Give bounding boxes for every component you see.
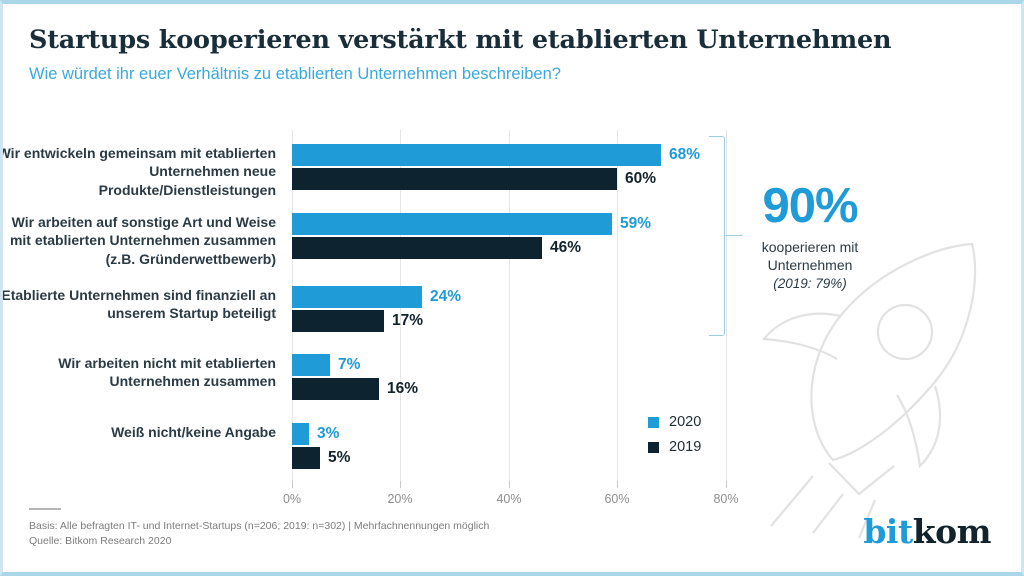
bar-2019-2: 17% — [292, 310, 384, 332]
legend-label-2019: 2019 — [669, 439, 701, 455]
page-title: Startups kooperieren verstärkt mit etabl… — [29, 26, 989, 55]
category-label-0: Wir entwickeln gemeinsam mit etablierten… — [0, 144, 276, 199]
tickmark-0 — [292, 481, 293, 488]
category-label-3: Wir arbeiten nicht mit etablierten Unter… — [0, 354, 276, 391]
gridline-60 — [617, 130, 618, 481]
x-tick-label-60: 60% — [604, 492, 629, 506]
bar-2020-3: 7% — [292, 354, 330, 376]
x-tick-label-0: 0% — [283, 492, 301, 506]
callout-description-line1: kooperieren mit — [762, 239, 859, 255]
infographic-canvas: Startups kooperieren verstärkt mit etabl… — [0, 0, 1024, 576]
bar-2019-4: 5% — [292, 447, 320, 469]
chart-legend: 2020 2019 — [648, 414, 701, 464]
bar-value-2019-4: 5% — [328, 449, 350, 467]
legend-swatch-2020-icon — [648, 417, 659, 428]
footer: Basis: Alle befragten IT- und Internet-S… — [29, 508, 489, 550]
logo-part-kom: kom — [913, 512, 991, 551]
callout-value: 90% — [726, 182, 894, 231]
footer-divider — [29, 508, 61, 510]
footer-source: Quelle: Bitkom Research 2020 — [29, 534, 489, 550]
bar-2019-3: 16% — [292, 378, 379, 400]
callout-description-line2: Unternehmen — [768, 257, 853, 273]
bar-value-2020-3: 7% — [338, 356, 360, 374]
category-label-4: Weiß nicht/keine Angabe — [0, 423, 276, 441]
tickmark-60 — [617, 481, 618, 488]
bar-2020-4: 3% — [292, 423, 309, 445]
bar-chart: 0% 20% 40% 60% 80% Wir entwickeln gemein… — [3, 122, 1024, 512]
footer-basis: Basis: Alle befragten IT- und Internet-S… — [29, 519, 489, 535]
bar-value-2019-2: 17% — [392, 312, 423, 330]
logo-part-bit: bit — [863, 512, 912, 551]
callout-bracket — [709, 136, 725, 336]
callout-note: (2019: 79%) — [726, 276, 894, 291]
tickmark-40 — [509, 481, 510, 488]
legend-swatch-2019-icon — [648, 442, 659, 453]
x-tick-label-40: 40% — [496, 492, 521, 506]
page-subtitle: Wie würdet ihr euer Verhältnis zu etabli… — [29, 65, 989, 85]
x-tick-label-20: 20% — [387, 492, 412, 506]
bar-2019-0: 60% — [292, 168, 617, 190]
bar-value-2019-3: 16% — [387, 380, 418, 398]
bar-value-2020-2: 24% — [430, 288, 461, 306]
header: Startups kooperieren verstärkt mit etabl… — [29, 26, 989, 85]
bar-value-2019-0: 60% — [625, 170, 656, 188]
callout-description: kooperieren mit Unternehmen — [726, 238, 894, 274]
bar-2020-0: 68% — [292, 144, 661, 166]
x-tick-label-80: 80% — [713, 492, 738, 506]
bar-2019-1: 46% — [292, 237, 542, 259]
bar-value-2019-1: 46% — [550, 239, 581, 257]
tickmark-20 — [400, 481, 401, 488]
category-label-2: Etablierte Unternehmen sind finanziell a… — [0, 286, 276, 323]
legend-item-2020[interactable]: 2020 — [648, 414, 701, 430]
legend-item-2019[interactable]: 2019 — [648, 439, 701, 455]
bar-value-2020-0: 68% — [669, 146, 700, 164]
bar-2020-2: 24% — [292, 286, 422, 308]
tickmark-80 — [726, 481, 727, 488]
bitkom-logo: bitkom — [863, 515, 991, 548]
bar-2020-1: 59% — [292, 213, 612, 235]
bar-value-2020-1: 59% — [620, 215, 651, 233]
bar-value-2020-4: 3% — [317, 425, 339, 443]
legend-label-2020: 2020 — [669, 414, 701, 430]
category-label-1: Wir arbeiten auf sonstige Art und Weise … — [0, 213, 276, 268]
callout-annotation: 90% kooperieren mit Unternehmen (2019: 7… — [726, 182, 894, 291]
